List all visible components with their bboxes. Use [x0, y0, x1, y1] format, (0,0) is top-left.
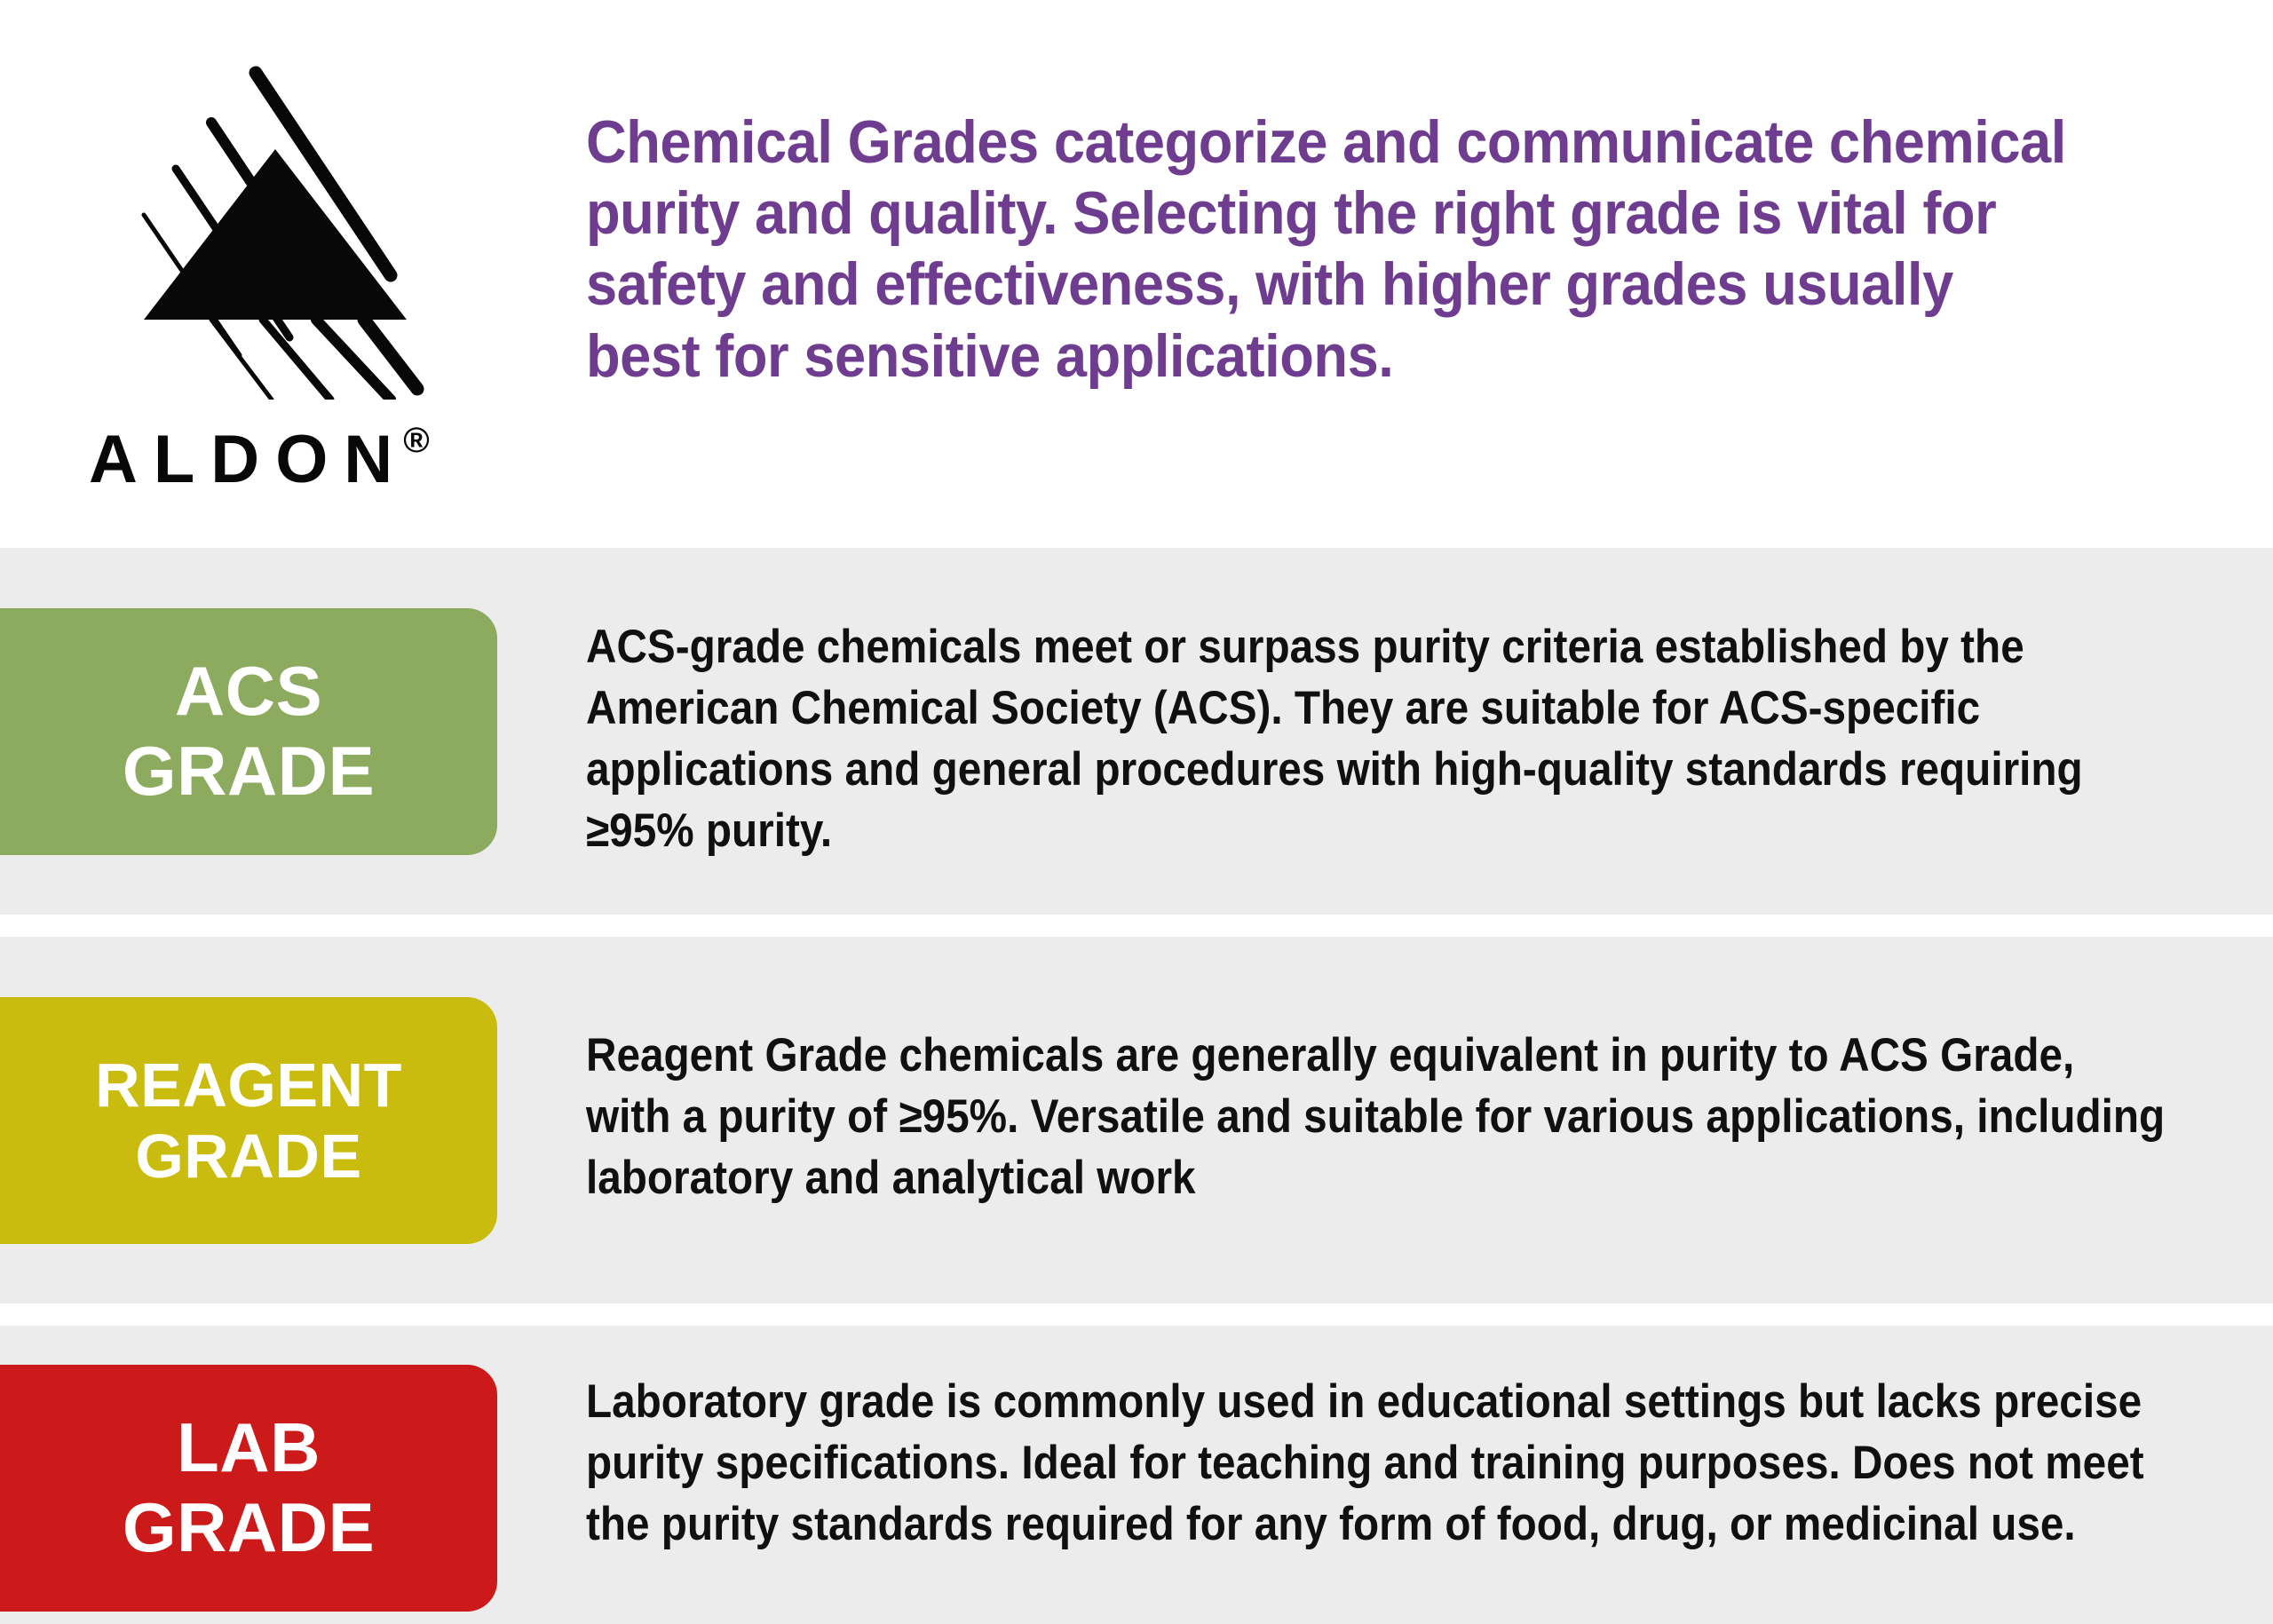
- grade-row-lab: LAB GRADE Laboratory grade is commonly u…: [0, 1326, 2273, 1624]
- page-headline: Chemical Grades categorize and communica…: [586, 107, 2072, 392]
- triangle-speed-lines-icon: [98, 53, 453, 400]
- grade-badge-reagent-line2: GRADE: [135, 1121, 361, 1192]
- grade-badge-lab-line1: LAB: [177, 1408, 321, 1488]
- registered-trademark-icon: ®: [403, 423, 429, 458]
- brand-wordmark-text: ALDON: [89, 426, 408, 494]
- aldon-logo: ALDON ®: [89, 53, 462, 497]
- grade-row-acs: ACS GRADE ACS-grade chemicals meet or su…: [0, 548, 2273, 915]
- grade-description-acs: ACS-grade chemicals meet or surpass puri…: [586, 617, 2168, 862]
- grade-badge-lab-line2: GRADE: [123, 1488, 375, 1568]
- grade-badge-reagent-line1: REAGENT: [95, 1050, 402, 1121]
- grade-description-lab: Laboratory grade is commonly used in edu…: [586, 1372, 2168, 1556]
- grade-badge-acs-line2: GRADE: [123, 732, 375, 812]
- grade-badge-reagent: REAGENT GRADE: [0, 997, 497, 1244]
- grade-row-reagent: REAGENT GRADE Reagent Grade chemicals ar…: [0, 937, 2273, 1303]
- header-section: ALDON ® Chemical Grades categorize and c…: [0, 0, 2273, 548]
- grade-badge-acs-line1: ACS: [175, 652, 322, 732]
- grade-badge-lab: LAB GRADE: [0, 1365, 497, 1612]
- grade-description-reagent: Reagent Grade chemicals are generally eq…: [586, 1026, 2168, 1209]
- brand-wordmark: ALDON ®: [89, 426, 471, 497]
- grade-badge-acs: ACS GRADE: [0, 608, 497, 855]
